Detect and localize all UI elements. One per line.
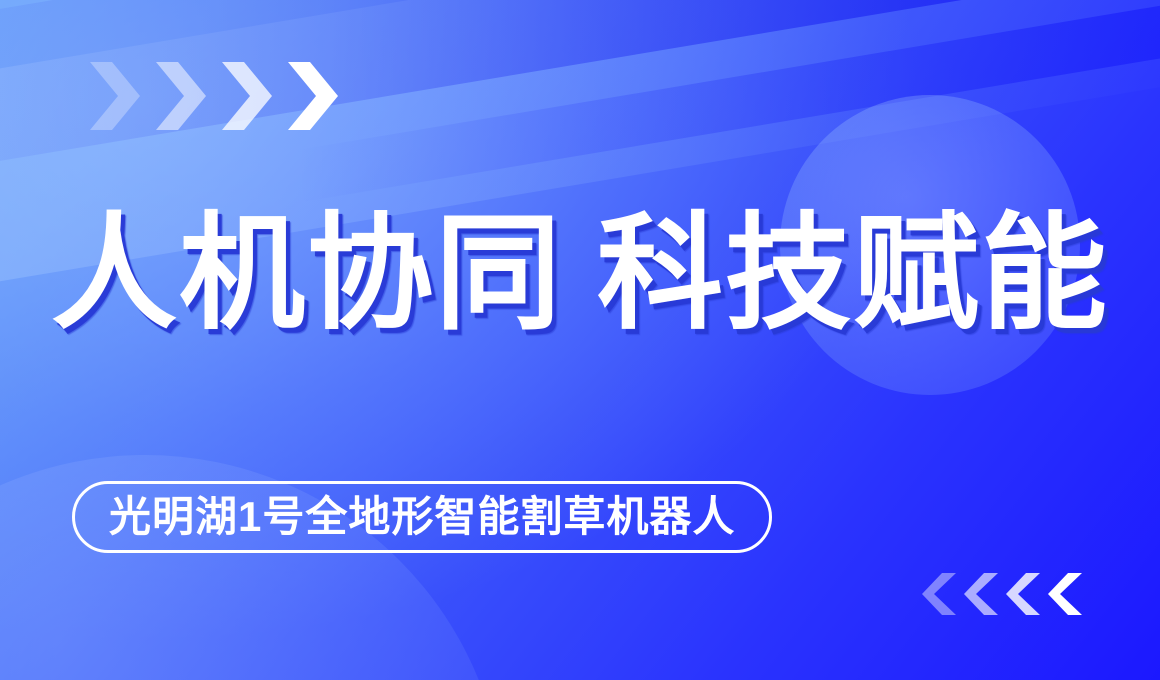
chevron-left-icon <box>1048 570 1088 618</box>
chevron-left-icon <box>922 570 962 618</box>
chevron-group-top-left <box>84 58 344 134</box>
chevron-group-bottom-right <box>922 570 1088 618</box>
chevron-left-icon <box>1006 570 1046 618</box>
subtitle-pill: 光明湖1号全地形智能割草机器人 <box>72 481 772 553</box>
promo-banner: 人机协同科技赋能 光明湖1号全地形智能割草机器人 <box>0 0 1160 680</box>
banner-title-part-1: 人机协同 <box>51 203 563 344</box>
chevron-left-icon <box>964 570 1004 618</box>
chevron-right-icon <box>150 58 212 134</box>
banner-title: 人机协同科技赋能 <box>51 206 1109 342</box>
banner-subtitle: 光明湖1号全地形智能割草机器人 <box>109 496 735 538</box>
banner-subtitle-container: 光明湖1号全地形智能割草机器人 <box>72 481 772 553</box>
chevron-right-icon <box>216 58 278 134</box>
banner-title-container: 人机协同科技赋能 <box>0 206 1160 342</box>
chevron-right-icon <box>282 58 344 134</box>
banner-title-part-2: 科技赋能 <box>597 203 1109 344</box>
chevron-right-icon <box>84 58 146 134</box>
